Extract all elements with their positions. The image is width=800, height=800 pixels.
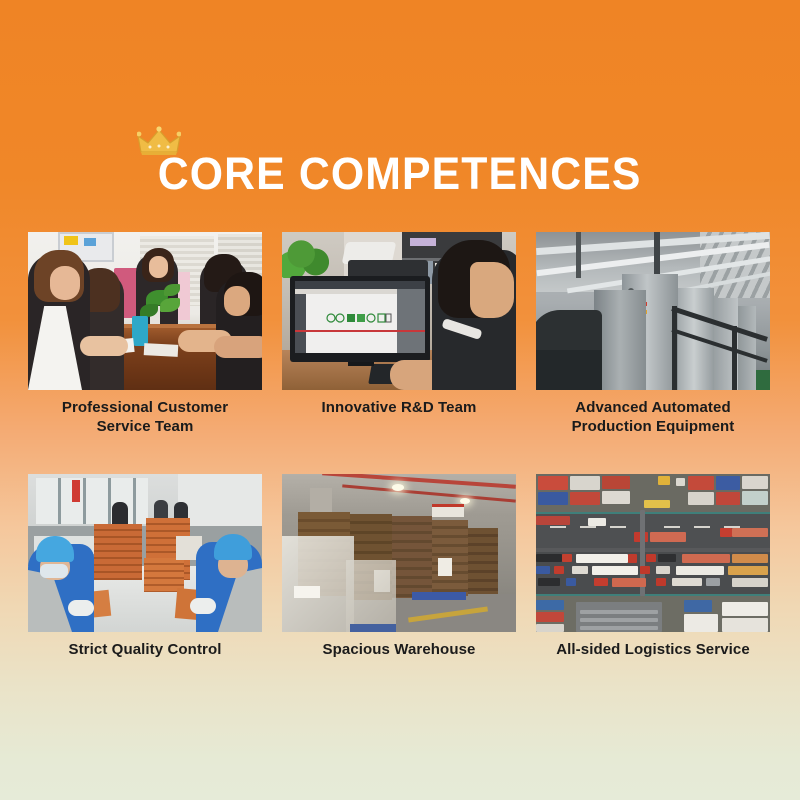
photo-customer-service-team: [28, 232, 262, 390]
competence-card-logistics[interactable]: All-sided Logistics Service: [536, 474, 770, 659]
caption-line-1: Professional Customer: [28, 398, 262, 417]
competence-card-rd-team[interactable]: Innovative R&D Team: [282, 232, 516, 436]
competence-card-production-equipment[interactable]: Advanced Automated Production Equipment: [536, 232, 770, 436]
competence-card-customer-service[interactable]: Professional Customer Service Team: [28, 232, 262, 436]
competence-card-warehouse[interactable]: Spacious Warehouse: [282, 474, 516, 659]
design-software-icons: [326, 312, 392, 324]
photo-production-equipment: [536, 232, 770, 390]
caption-line-2: Service Team: [28, 417, 262, 436]
caption-line-1: Spacious Warehouse: [282, 640, 516, 659]
core-competences-banner: CORE COMPETENCES: [0, 0, 800, 800]
competence-card-quality-control[interactable]: Strict Quality Control: [28, 474, 262, 659]
competence-grid: Professional Customer Service Team: [28, 232, 772, 659]
caption-warehouse: Spacious Warehouse: [282, 640, 516, 659]
caption-production-equipment: Advanced Automated Production Equipment: [536, 398, 770, 436]
caption-logistics: All-sided Logistics Service: [536, 640, 770, 659]
caption-customer-service: Professional Customer Service Team: [28, 398, 262, 436]
caption-rd-team: Innovative R&D Team: [282, 398, 516, 417]
photo-warehouse: [282, 474, 516, 632]
caption-line-1: Strict Quality Control: [28, 640, 262, 659]
photo-logistics-service: [536, 474, 770, 632]
caption-line-1: All-sided Logistics Service: [536, 640, 770, 659]
photo-quality-control: [28, 474, 262, 632]
title-block: CORE COMPETENCES: [0, 148, 800, 200]
caption-quality-control: Strict Quality Control: [28, 640, 262, 659]
page-title: CORE COMPETENCES: [158, 148, 642, 200]
caption-line-1: Innovative R&D Team: [282, 398, 516, 417]
caption-line-1: Advanced Automated: [536, 398, 770, 417]
caption-line-2: Production Equipment: [536, 417, 770, 436]
photo-rd-team: [282, 232, 516, 390]
